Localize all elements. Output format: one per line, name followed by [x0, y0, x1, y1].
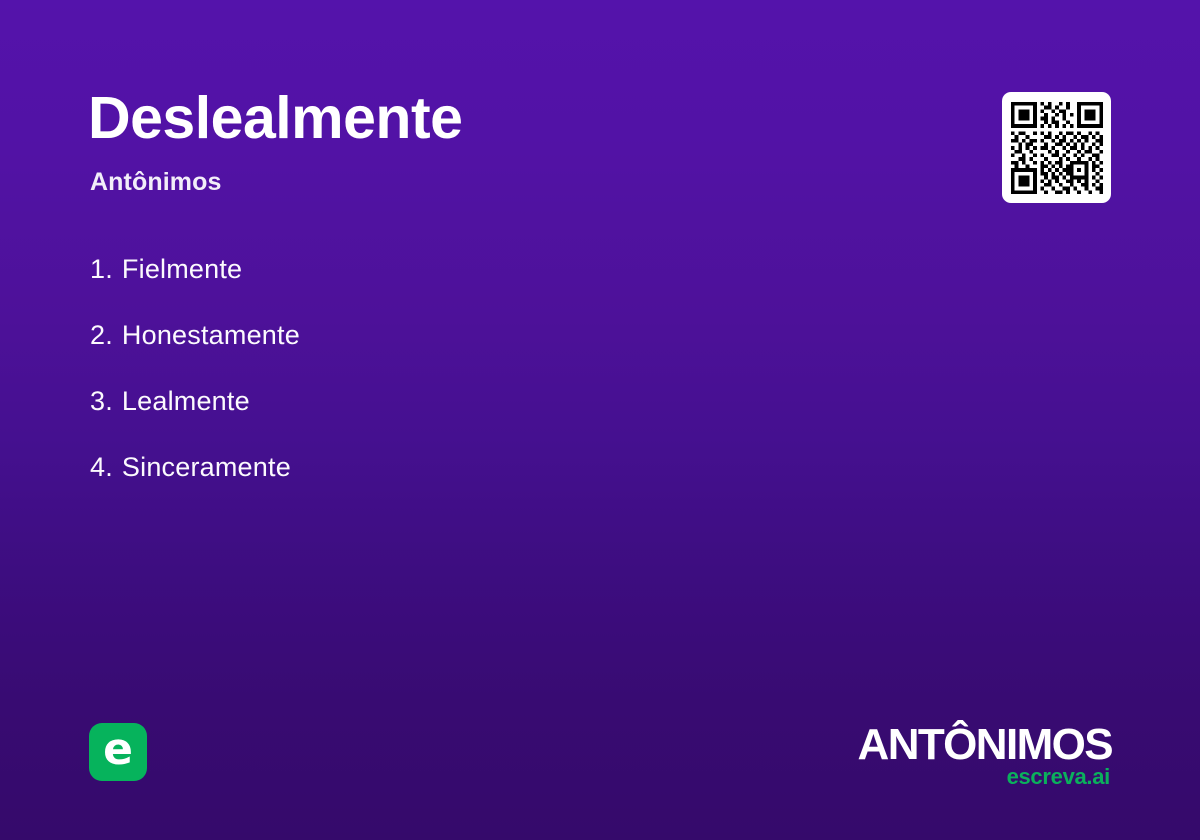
logo-letter-e: e: [103, 728, 133, 772]
antonym-list: 1. Fielmente 2. Honestamente 3. Lealment…: [90, 236, 790, 500]
escreva-logo-badge[interactable]: e: [89, 723, 147, 781]
list-item-label: Lealmente: [122, 386, 250, 417]
wordmark-secondary: escreva.ai: [858, 766, 1110, 788]
category-label: Antônimos: [90, 168, 221, 197]
wordmark-primary: ANTÔNIMOS: [858, 725, 1112, 765]
list-item-number: 2.: [90, 320, 113, 351]
list-item: 3. Lealmente: [90, 368, 790, 434]
qr-code-panel[interactable]: [1002, 92, 1111, 203]
list-item-number: 3.: [90, 386, 113, 417]
list-item: 1. Fielmente: [90, 236, 790, 302]
list-item-number: 4.: [90, 452, 113, 483]
qr-code-icon: [1011, 102, 1103, 194]
list-item-label: Honestamente: [122, 320, 300, 351]
brand-wordmark: ANTÔNIMOS escreva.ai: [858, 725, 1112, 788]
list-item-number: 1.: [90, 254, 113, 285]
page-title: Deslealmente: [88, 88, 462, 148]
list-item-label: Fielmente: [122, 254, 242, 285]
list-item-label: Sinceramente: [122, 452, 291, 483]
list-item: 2. Honestamente: [90, 302, 790, 368]
list-item: 4. Sinceramente: [90, 434, 790, 500]
antonym-card: Deslealmente Antônimos 1. Fielmente 2. H…: [0, 0, 1200, 840]
